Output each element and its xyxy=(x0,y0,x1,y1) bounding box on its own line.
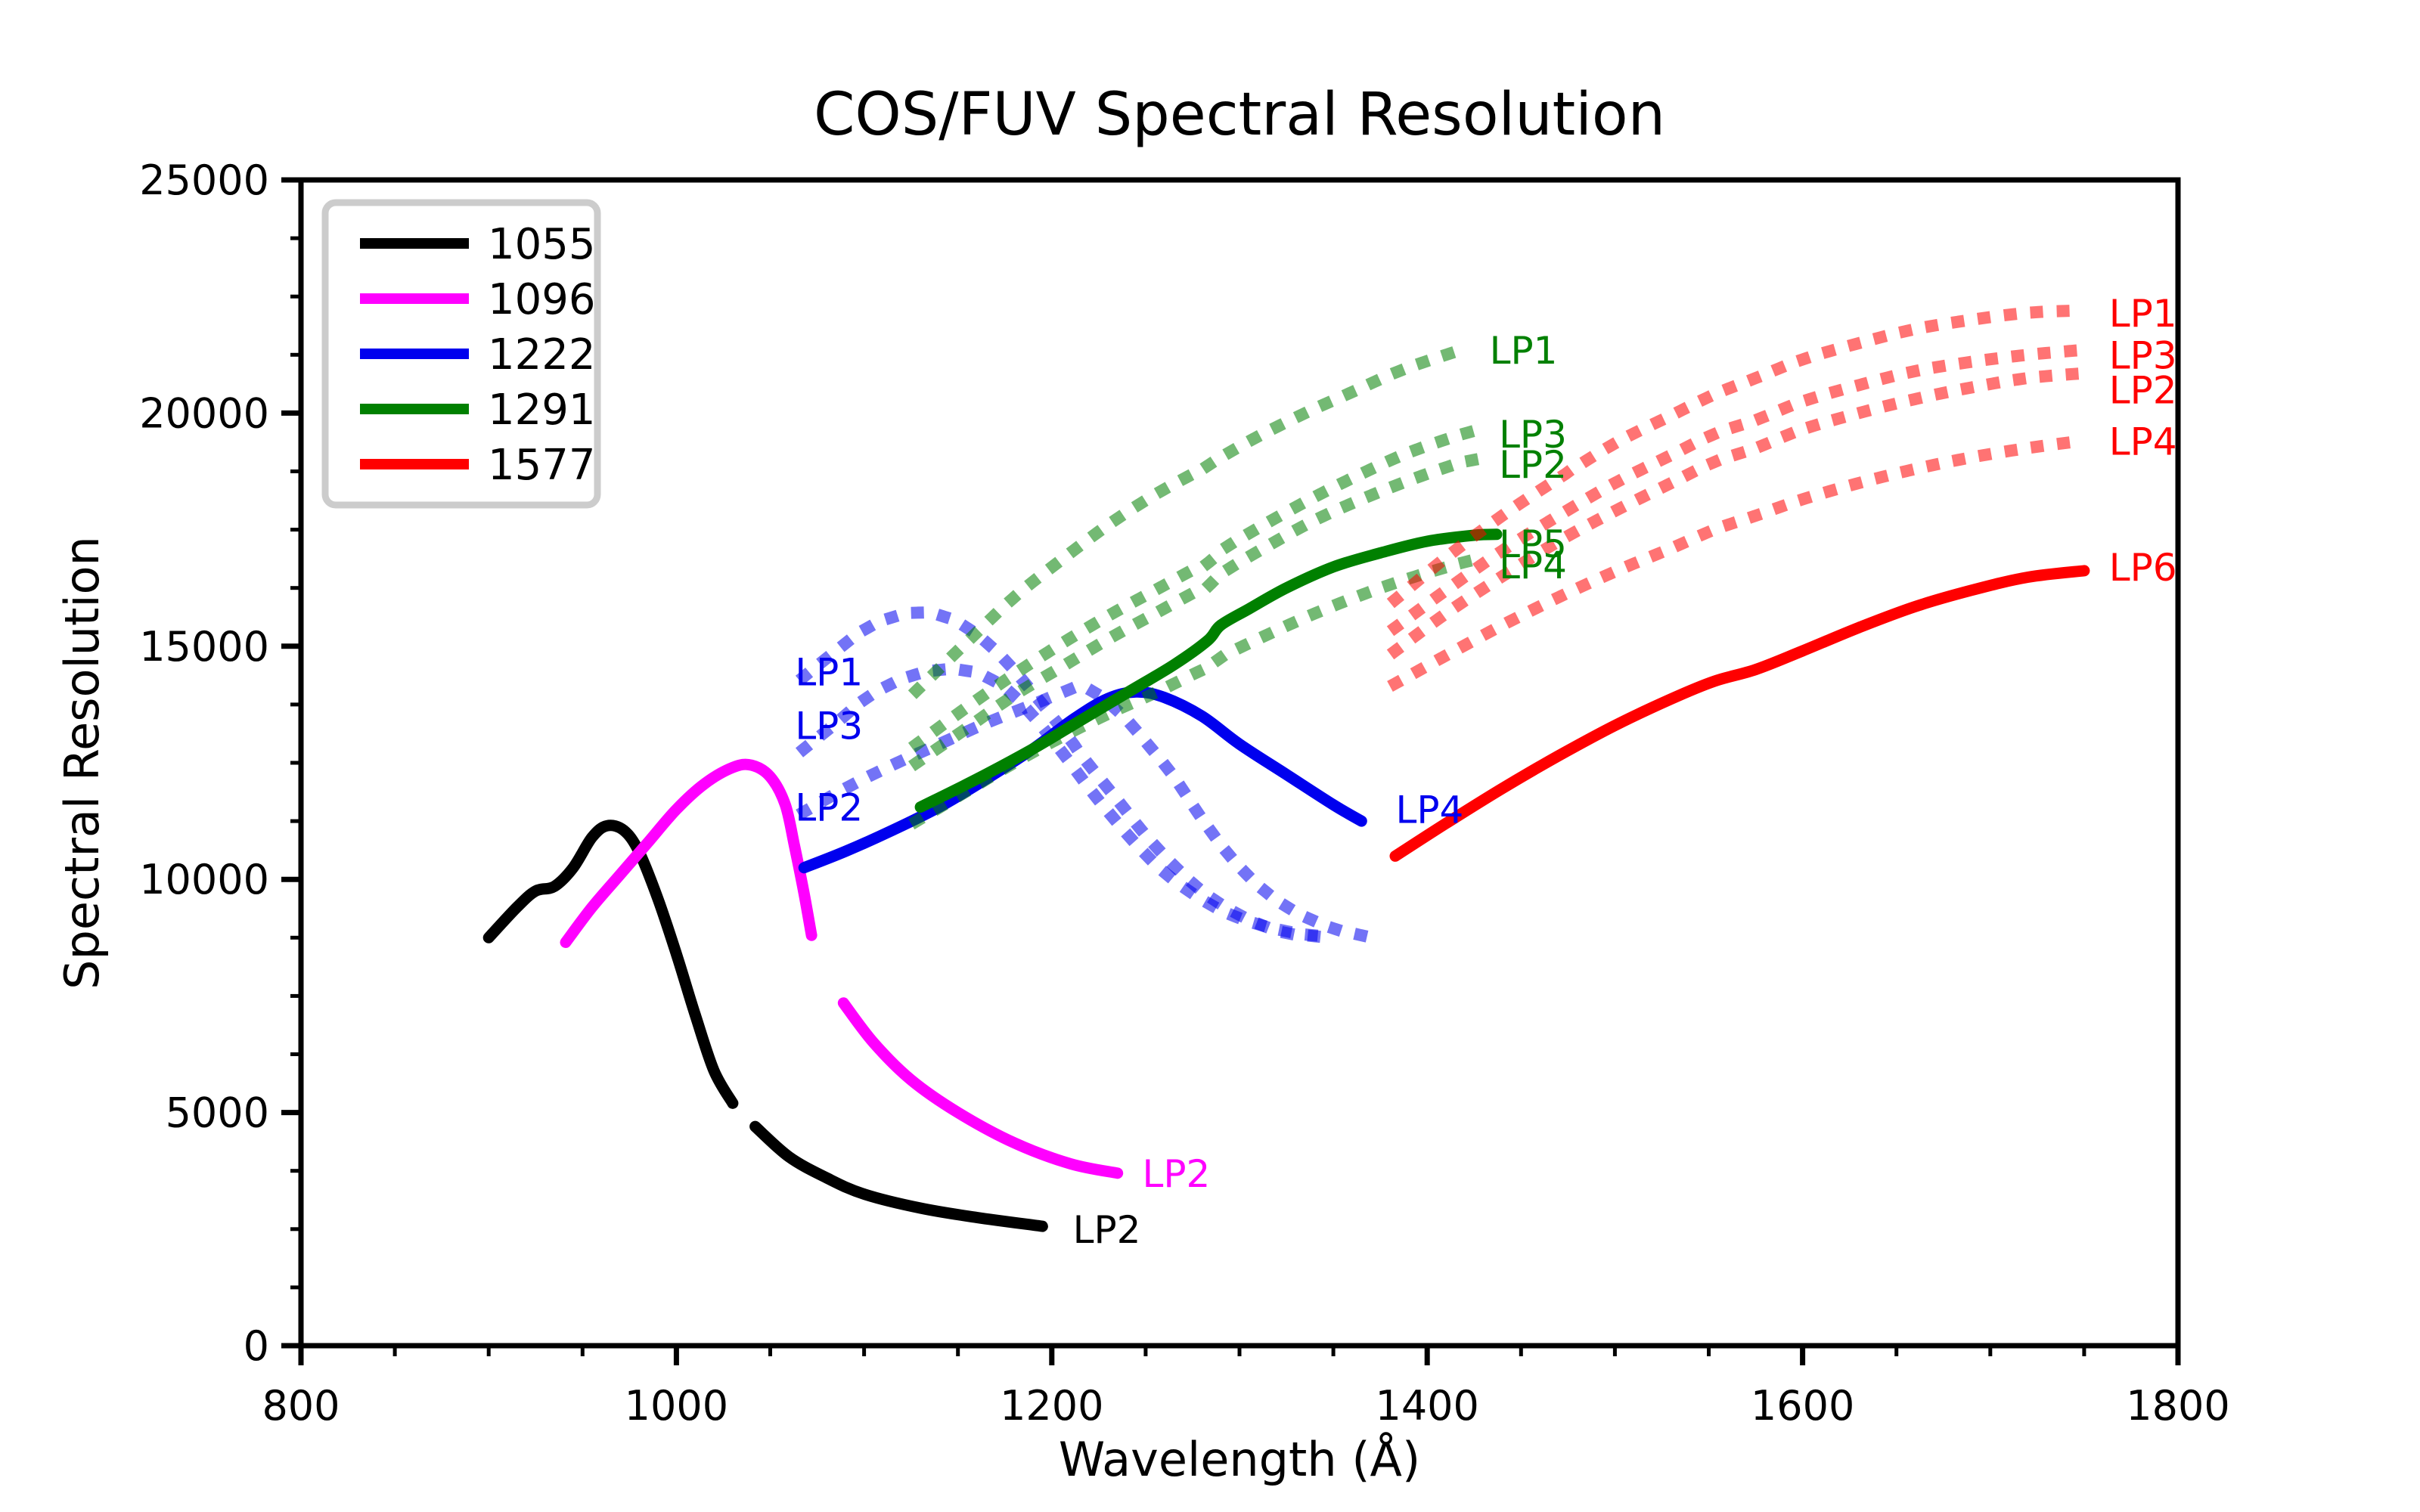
figure-canvas: 8001000120014001600180005000100001500020… xyxy=(0,0,2420,1512)
legend-label-1096: 1096 xyxy=(488,275,596,324)
x-tick-label: 1000 xyxy=(625,1382,728,1430)
y-tick-label: 10000 xyxy=(139,856,269,903)
x-tick-label: 1600 xyxy=(1751,1382,1854,1430)
legend-label-1291: 1291 xyxy=(488,386,596,435)
page-title: COS/FUV Spectral Resolution xyxy=(814,81,1665,149)
series-annotation-label: LP4 xyxy=(1396,789,1464,832)
series-annotation-label: LP6 xyxy=(2109,546,2177,590)
y-tick-label: 15000 xyxy=(139,623,269,671)
series-annotation-label: LP2 xyxy=(1073,1208,1141,1252)
y-tick-label: 25000 xyxy=(139,156,269,204)
series-annotation-label: LP3 xyxy=(795,705,863,748)
legend-label-1055: 1055 xyxy=(488,220,596,269)
x-tick-label: 1800 xyxy=(2126,1382,2229,1430)
series-annotation-label: LP2 xyxy=(2109,369,2177,413)
y-tick-label: 5000 xyxy=(166,1089,269,1137)
y-tick-label: 0 xyxy=(244,1322,269,1370)
legend-label-1222: 1222 xyxy=(488,330,596,380)
series-annotation-label: LP1 xyxy=(1490,329,1558,373)
x-tick-label: 1400 xyxy=(1375,1382,1478,1430)
series-annotation-label: LP2 xyxy=(1142,1152,1210,1196)
series-annotation-label: LP2 xyxy=(1499,443,1567,487)
x-tick-label: 800 xyxy=(262,1382,340,1430)
spectral-resolution-chart: 8001000120014001600180005000100001500020… xyxy=(0,0,2420,1512)
y-axis-label: Spectral Resolution xyxy=(54,536,110,990)
x-axis-label: Wavelength (Å) xyxy=(1059,1432,1420,1487)
series-annotation-label: LP4 xyxy=(2109,420,2177,463)
x-tick-label: 1200 xyxy=(1000,1382,1103,1430)
legend-label-1577: 1577 xyxy=(488,441,596,490)
series-annotation-label: LP4 xyxy=(1499,544,1567,587)
series-annotation-label: LP2 xyxy=(795,786,863,830)
series-annotation-label: LP1 xyxy=(2109,292,2177,336)
y-tick-label: 20000 xyxy=(139,389,269,437)
series-annotation-label: LP1 xyxy=(795,651,863,695)
